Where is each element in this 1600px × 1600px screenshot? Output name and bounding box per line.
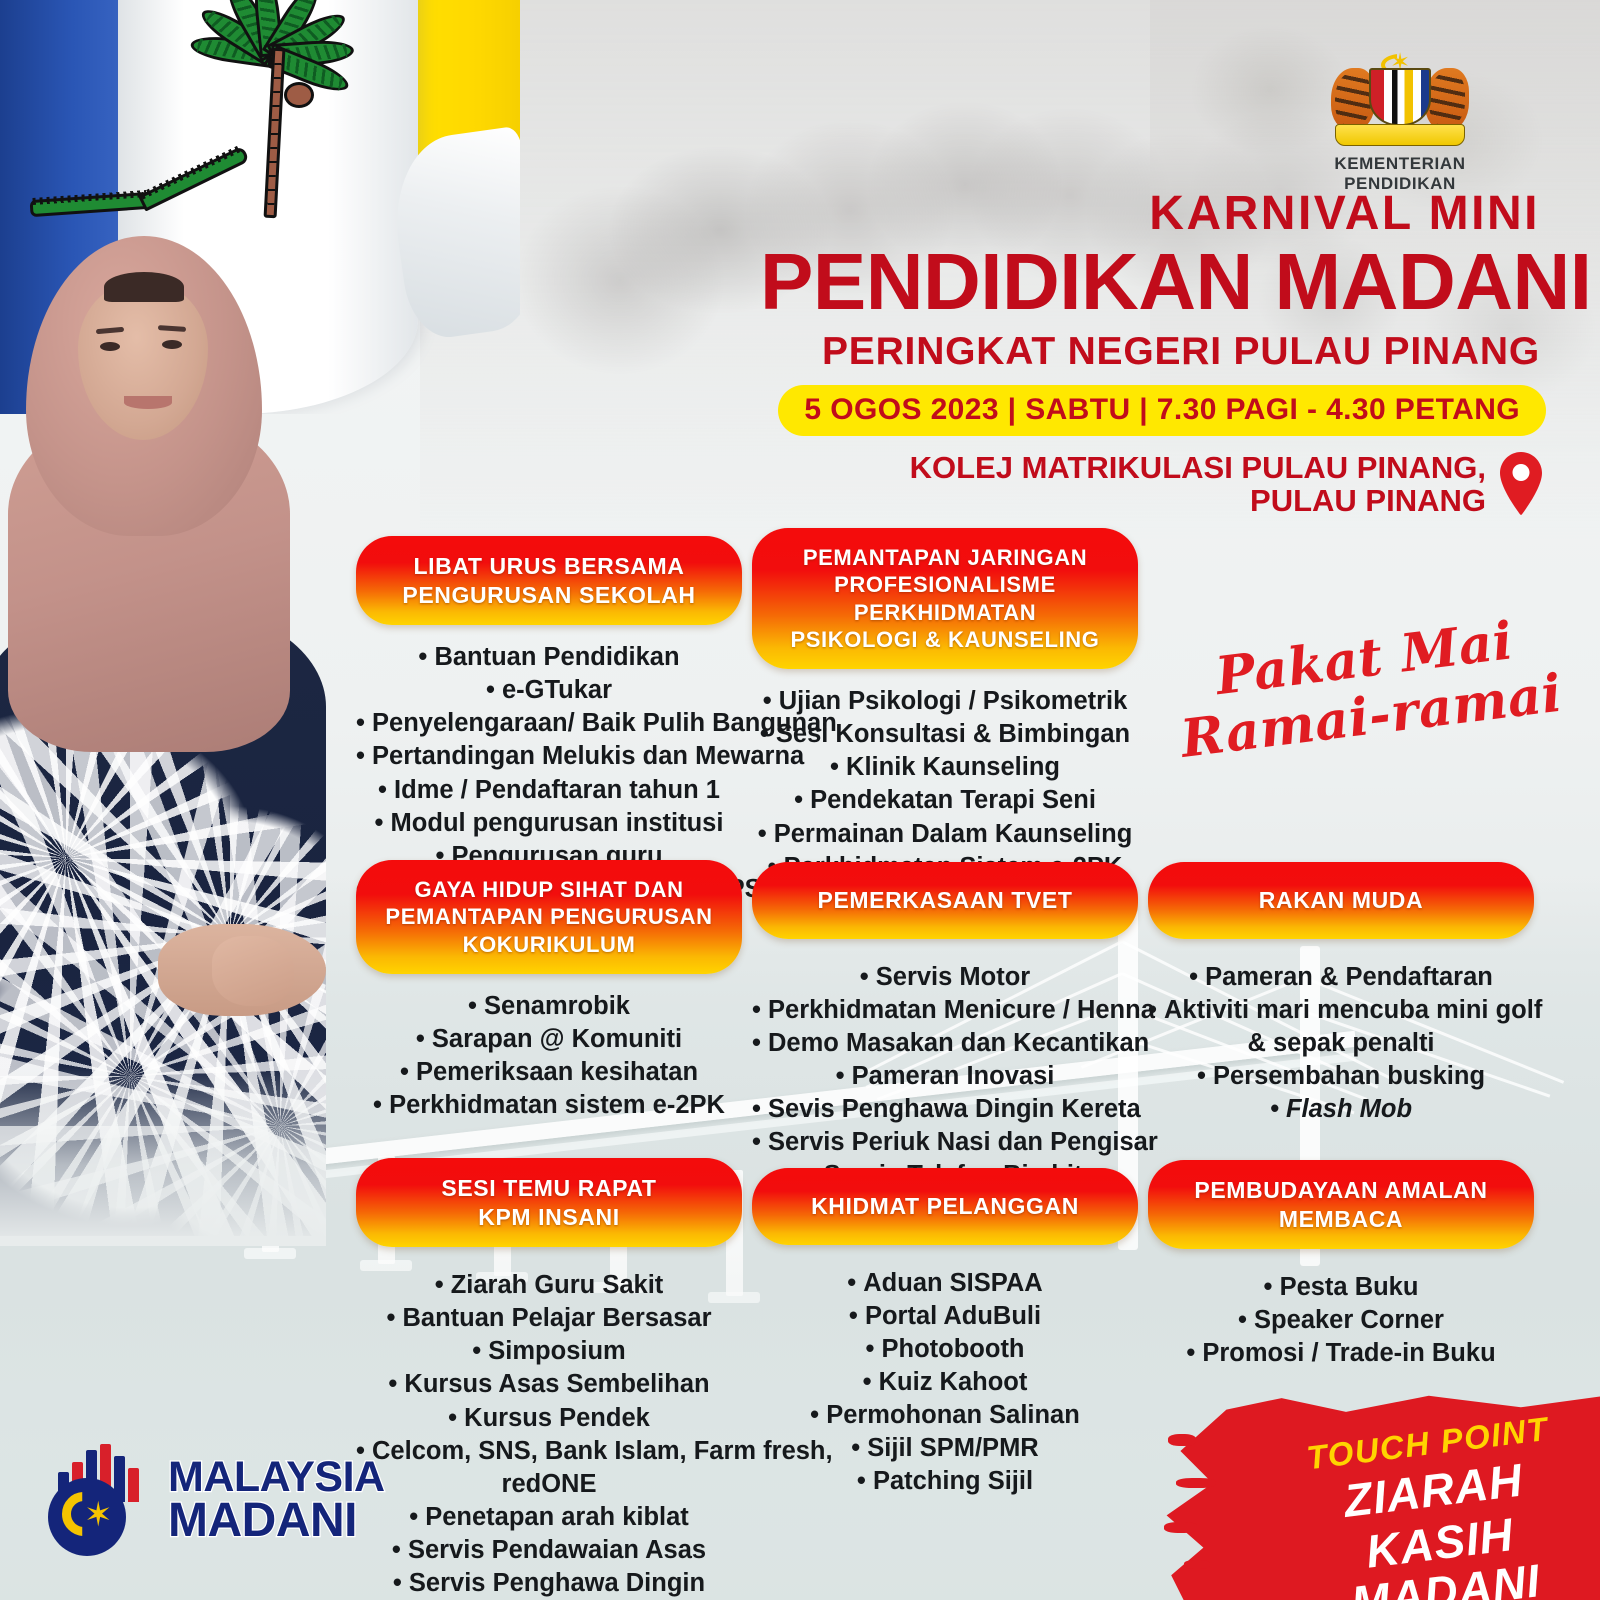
- list-item: Servis Pendawaian Asas: [356, 1534, 742, 1567]
- card-title-line: KHIDMAT PELANGGAN: [770, 1192, 1120, 1221]
- list-item: Aduan SISPAA: [752, 1267, 1138, 1300]
- list-item: Photobooth: [752, 1333, 1138, 1366]
- brush-fleck: [1176, 1478, 1216, 1488]
- list-item: Speaker Corner: [1148, 1304, 1534, 1337]
- list-item: Portal AduBuli: [752, 1300, 1138, 1333]
- card-khidmat-pelanggan[interactable]: KHIDMAT PELANGGAN Aduan SISPAA Portal Ad…: [752, 1168, 1138, 1499]
- list-item: Pertandingan Melukis dan Mewarna: [356, 740, 742, 773]
- list-item: Servis Motor: [752, 961, 1138, 994]
- card-item-list: Senamrobik Sarapan @ Komuniti Pemeriksaa…: [356, 990, 742, 1123]
- card-title-line: PEMANTAPAN PENGURUSAN: [374, 903, 724, 930]
- card-title-line: KOKURIKULUM: [374, 931, 724, 958]
- card-title-line: PEMANTAPAN JARINGAN: [770, 544, 1120, 571]
- card-title-line: PENGURUSAN SEKOLAH: [374, 581, 724, 610]
- card-psikologi-kaunseling[interactable]: PEMANTAPAN JARINGAN PROFESIONALISME PERK…: [752, 528, 1138, 917]
- list-item: Penyelengaraan/ Baik Pulih Bangunan: [356, 707, 742, 740]
- brush-fleck: [1184, 1560, 1210, 1569]
- list-item: Sarapan @ Komuniti: [356, 1023, 742, 1056]
- card-title-line: MEMBACA: [1166, 1205, 1516, 1234]
- card-title: RAKAN MUDA: [1148, 862, 1534, 939]
- list-item: Perkhidmatan sistem e-2PK: [356, 1089, 742, 1122]
- list-item: redONE: [356, 1468, 742, 1501]
- list-item: Celcom, SNS, Bank Islam, Farm fresh,: [356, 1435, 742, 1468]
- list-item: Bantuan Pelajar Bersasar: [356, 1302, 742, 1335]
- card-gaya-hidup-sihat[interactable]: GAYA HIDUP SIHAT DAN PEMANTAPAN PENGURUS…: [356, 860, 742, 1122]
- card-title-line: RAKAN MUDA: [1166, 886, 1516, 915]
- poster-canvas: ✶ KEMENTERIAN PENDIDIKAN KARNIVAL MINI P…: [0, 0, 1600, 1600]
- list-item: Ujian Psikologi / Psikometrik: [752, 685, 1138, 718]
- list-item: Sijil SPM/PMR: [752, 1432, 1138, 1465]
- card-libat-urus[interactable]: LIBAT URUS BERSAMA PENGURUSAN SEKOLAH Ba…: [356, 536, 742, 906]
- card-title: SESI TEMU RAPAT KPM INSANI: [356, 1158, 742, 1247]
- list-item: Sesi Konsultasi & Bimbingan: [752, 718, 1138, 751]
- card-item-list: Pameran & Pendaftaran Aktiviti mari menc…: [1148, 961, 1534, 1127]
- list-item: Idme / Pendaftaran tahun 1: [356, 774, 742, 807]
- list-item: Senamrobik: [356, 990, 742, 1023]
- list-item: Pameran & Pendaftaran: [1148, 961, 1534, 994]
- card-title: PEMERKASAAN TVET: [752, 862, 1138, 939]
- card-pembudayaan-amalan-membaca[interactable]: PEMBUDAYAAN AMALAN MEMBACA Pesta Buku Sp…: [1148, 1160, 1534, 1370]
- card-title-line: PEMBUDAYAAN AMALAN: [1166, 1176, 1516, 1205]
- brush-fleck: [1168, 1434, 1196, 1446]
- list-item: Permohonan Salinan: [752, 1399, 1138, 1432]
- list-item: Klinik Kaunseling: [752, 751, 1138, 784]
- card-title-line: PROFESIONALISME PERKHIDMATAN: [770, 571, 1120, 626]
- list-item: Penetapan arah kiblat: [356, 1501, 742, 1534]
- card-title-line: LIBAT URUS BERSAMA: [374, 552, 724, 581]
- list-item: Pendekatan Terapi Seni: [752, 784, 1138, 817]
- card-item-list: Servis Motor Perkhidmatan Menicure / Hen…: [752, 961, 1138, 1193]
- list-item: Demo Masakan dan Kecantikan: [752, 1027, 1138, 1060]
- list-item: Kuiz Kahoot: [752, 1366, 1138, 1399]
- list-item: Permainan Dalam Kaunseling: [752, 818, 1138, 851]
- touch-point-banner: TOUCH POINT ZIARAH KASIH MADANI: [1162, 1382, 1600, 1600]
- list-item: Promosi / Trade-in Buku: [1148, 1337, 1534, 1370]
- list-item: Pemeriksaan kesihatan: [356, 1056, 742, 1089]
- card-title: PEMANTAPAN JARINGAN PROFESIONALISME PERK…: [752, 528, 1138, 669]
- card-rakan-muda[interactable]: RAKAN MUDA Pameran & Pendaftaran Aktivit…: [1148, 862, 1534, 1126]
- card-item-list: Ziarah Guru Sakit Bantuan Pelajar Bersas…: [356, 1269, 742, 1600]
- card-title: LIBAT URUS BERSAMA PENGURUSAN SEKOLAH: [356, 536, 742, 625]
- madani-logo-line-1: MALAYSIA: [168, 1457, 385, 1497]
- list-item: Flash Mob: [1148, 1093, 1534, 1126]
- list-item: Aktiviti mari mencuba mini golf: [1148, 994, 1534, 1027]
- card-title: PEMBUDAYAAN AMALAN MEMBACA: [1148, 1160, 1534, 1249]
- list-item: Kursus Pendek: [356, 1402, 742, 1435]
- card-title: KHIDMAT PELANGGAN: [752, 1168, 1138, 1245]
- program-cards-grid: LIBAT URUS BERSAMA PENGURUSAN SEKOLAH Ba…: [0, 0, 1600, 1600]
- brush-fleck: [1164, 1522, 1198, 1533]
- list-item: Pameran Inovasi: [752, 1060, 1138, 1093]
- list-item: Bantuan Pendidikan: [356, 641, 742, 674]
- list-item: Persembahan busking: [1148, 1060, 1534, 1093]
- card-title-line: GAYA HIDUP SIHAT DAN: [374, 876, 724, 903]
- list-item: Sevis Penghawa Dingin Kereta: [752, 1093, 1138, 1126]
- card-sesi-temu-rapat[interactable]: SESI TEMU RAPAT KPM INSANI Ziarah Guru S…: [356, 1158, 742, 1600]
- list-item: & sepak penalti: [1148, 1027, 1534, 1060]
- malaysia-madani-logo: ✶ MALAYSIA MADANI: [44, 1436, 344, 1564]
- list-item: Simposium: [356, 1335, 742, 1368]
- list-item: Patching Sijil: [752, 1465, 1138, 1498]
- list-item: Kursus Asas Sembelihan: [356, 1368, 742, 1401]
- list-item: Ziarah Guru Sakit: [356, 1269, 742, 1302]
- list-item: e-GTukar: [356, 674, 742, 707]
- list-item: Servis Periuk Nasi dan Pengisar: [752, 1126, 1138, 1159]
- card-title-line: SESI TEMU RAPAT: [374, 1174, 724, 1203]
- card-item-list: Aduan SISPAA Portal AduBuli Photobooth K…: [752, 1267, 1138, 1499]
- card-title-line: KPM INSANI: [374, 1203, 724, 1232]
- malaysia-madani-crescent-star-icon: ✶: [44, 1444, 152, 1556]
- card-pemerkasaan-tvet[interactable]: PEMERKASAAN TVET Servis Motor Perkhidmat…: [752, 862, 1138, 1193]
- list-item: Pesta Buku: [1148, 1271, 1534, 1304]
- card-title-line: PSIKOLOGI & KAUNSELING: [770, 626, 1120, 653]
- list-item: Servis Penghawa Dingin: [356, 1567, 742, 1600]
- madani-logo-line-2: MADANI: [168, 1498, 385, 1543]
- card-item-list: Pesta Buku Speaker Corner Promosi / Trad…: [1148, 1271, 1534, 1370]
- card-title: GAYA HIDUP SIHAT DAN PEMANTAPAN PENGURUS…: [356, 860, 742, 974]
- list-item: Modul pengurusan institusi: [356, 807, 742, 840]
- card-title-line: PEMERKASAAN TVET: [770, 886, 1120, 915]
- list-item: Perkhidmatan Menicure / Henna: [752, 994, 1138, 1027]
